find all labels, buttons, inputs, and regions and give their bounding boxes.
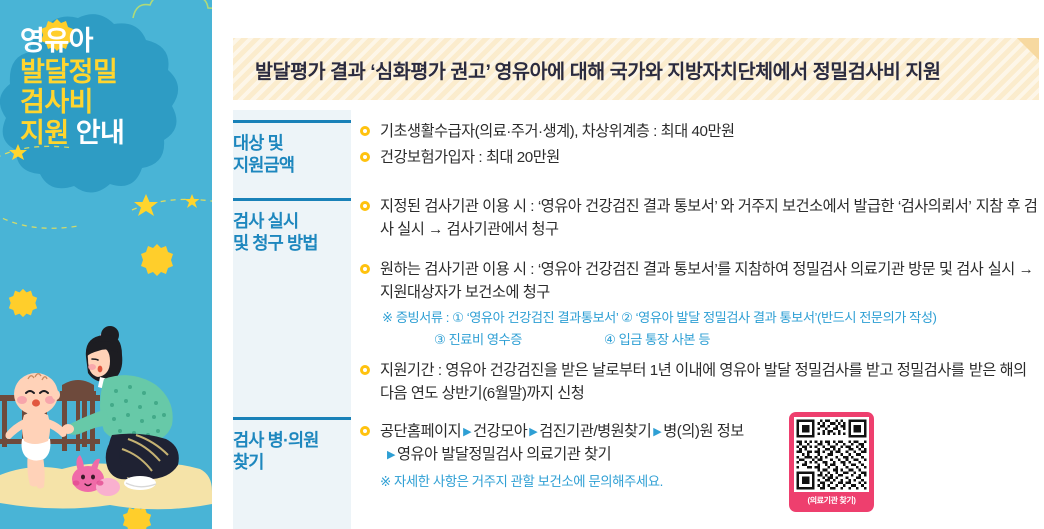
path-arrow-icon: ▶ — [527, 424, 539, 441]
navigation-sub-path: ▶영유아 발달정밀검사 의료기관 찾기 — [380, 443, 1038, 466]
qr-code-card[interactable]: (의료기관 찾기) — [789, 412, 874, 512]
bullet-text-line-1: 지원기간 : 영유아 건강검진을 받은 날로부터 1년 이내에 영유아 발달 정… — [380, 362, 964, 379]
path-step-3: 검진기관/병원찾기 — [539, 423, 651, 440]
required-documents-note: ※ 증빙서류 : ① ‘영유아 건강검진 결과통보서’ ② ‘영유아 발달 정밀… — [358, 307, 1038, 349]
note-doc-4: ④ 입금 통장 사본 등 — [604, 332, 710, 347]
poster-title-line-4: 지원 안내 — [20, 118, 205, 149]
poster-title-line-1: 영유아 — [20, 26, 205, 57]
navigation-path-item: 공단홈페이지▶건강모아▶검진기관/병원찾기▶병(의)원 정보 ▶영유아 발달정밀… — [358, 420, 1038, 466]
bullet-text-line-1: 지정된 검사기관 이용 시 : ‘영유아 건강검진 결과 통보서’ 와 거주지 … — [380, 198, 971, 215]
bullet-dot-icon — [360, 201, 370, 211]
navigation-path: 공단홈페이지▶건강모아▶검진기관/병원찾기▶병(의)원 정보 — [380, 423, 744, 440]
spacer — [358, 350, 1038, 359]
note-line-1: ※ 증빙서류 : ① ‘영유아 건강검진 결과통보서’ ② ‘영유아 발달 정밀… — [382, 307, 1038, 328]
section-label-line: 및 청구 방법 — [233, 232, 351, 254]
left-title-panel: 영유아 발달정밀 검사비 지원 안내 — [0, 0, 212, 529]
dashed-line-bottom-left — [0, 208, 80, 238]
section-label-find-clinic: 검사 병·의원 찾기 — [233, 417, 351, 474]
bullet-text: 기초생활수급자(의료·주거·생계), 차상위계층 : 최대 40만원 — [380, 123, 735, 140]
section-label-line: 찾기 — [233, 451, 351, 473]
path-step-4: 병(의)원 정보 — [663, 423, 744, 440]
note-doc-3: ③ 진료비 영수증 — [434, 329, 604, 350]
path-step-2: 건강모아 — [473, 423, 527, 440]
section-label-exam-and-claim: 검사 실시 및 청구 방법 — [233, 198, 351, 255]
section-label-line: 대상 및 — [233, 132, 351, 154]
section-content-column: 기초생활수급자(의료·주거·생계), 차상위계층 : 최대 40만원 건강보험가… — [358, 110, 1038, 529]
bullet-item: 기초생활수급자(의료·주거·생계), 차상위계층 : 최대 40만원 — [358, 120, 1038, 143]
bullet-item: 지정된 검사기관 이용 시 : ‘영유아 건강검진 결과 통보서’ 와 거주지 … — [358, 195, 1038, 241]
bullet-item: 지원기간 : 영유아 건강검진을 받은 날로부터 1년 이내에 영유아 발달 정… — [358, 359, 1038, 405]
poster-title-line-2: 발달정밀 — [20, 57, 205, 88]
infographic-poster: 영유아 발달정밀 검사비 지원 안내 — [0, 0, 1044, 529]
qr-code-caption: (의료기관 찾기) — [794, 492, 869, 510]
bullet-dot-icon — [360, 152, 370, 162]
section-label-target-and-amount: 대상 및 지원금액 — [233, 120, 351, 177]
path-arrow-icon: ▶ — [385, 447, 397, 464]
cloud-outline-decoration — [128, 0, 212, 28]
bullet-dot-icon — [360, 126, 370, 136]
flower-decoration-middle — [140, 243, 174, 277]
poster-title: 영유아 발달정밀 검사비 지원 안내 — [20, 26, 205, 148]
section-label-column: 대상 및 지원금액 검사 실시 및 청구 방법 검사 병·의원 찾기 — [233, 110, 351, 529]
path-arrow-icon: ▶ — [651, 424, 663, 441]
banner-title: 발달평가 결과 ‘심화평가 권고’ 영유아에 대해 국가와 지방자치단체에서 정… — [255, 38, 941, 100]
poster-title-line-4-b: 안내 — [76, 118, 125, 148]
bullet-dot-icon — [360, 426, 370, 436]
mother-and-baby-illustration — [0, 299, 212, 529]
poster-title-line-3: 검사비 — [20, 87, 205, 118]
bullet-dot-icon — [360, 365, 370, 375]
bullet-text: 건강보험가입자 : 최대 20만원 — [380, 149, 560, 166]
poster-title-line-4-a: 지원 — [20, 118, 76, 148]
path-step-1: 공단홈페이지 — [380, 423, 461, 440]
spacer — [358, 244, 1038, 258]
section-label-line: 검사 실시 — [233, 210, 351, 232]
qr-code-icon[interactable] — [794, 417, 869, 492]
banner-corner-fold-icon — [1017, 38, 1039, 60]
section-label-line: 검사 병·의원 — [233, 429, 351, 451]
section-content-find-clinic: 공단홈페이지▶건강모아▶검진기관/병원찾기▶병(의)원 정보 ▶영유아 발달정밀… — [358, 420, 1038, 492]
note-line-2: ③ 진료비 영수증④ 입금 통장 사본 등 — [382, 329, 1038, 350]
bullet-text-line-1: 원하는 검사기관 이용 시 : ‘영유아 건강검진 결과 통보서’를 지참하여 … — [380, 261, 983, 278]
section-content-target-and-amount: 기초생활수급자(의료·주거·생계), 차상위계층 : 최대 40만원 건강보험가… — [358, 120, 1038, 172]
path-sub-step: 영유아 발달정밀검사 의료기관 찾기 — [397, 446, 611, 463]
bullet-dot-icon — [360, 264, 370, 274]
bullet-item: 원하는 검사기관 이용 시 : ‘영유아 건강검진 결과 통보서’를 지참하여 … — [358, 258, 1038, 304]
health-center-inquiry-note: ※ 자세한 사항은 거주지 관할 보건소에 문의해주세요. — [358, 469, 1038, 492]
dashed-star-line-right — [130, 188, 212, 224]
path-arrow-icon: ▶ — [461, 424, 473, 441]
header-banner: 발달평가 결과 ‘심화평가 권고’ 영유아에 대해 국가와 지방자치단체에서 정… — [233, 38, 1039, 100]
section-content-exam-and-claim: 지정된 검사기관 이용 시 : ‘영유아 건강검진 결과 통보서’ 와 거주지 … — [358, 195, 1038, 408]
section-label-line: 지원금액 — [233, 154, 351, 176]
bullet-item: 건강보험가입자 : 최대 20만원 — [358, 146, 1038, 169]
